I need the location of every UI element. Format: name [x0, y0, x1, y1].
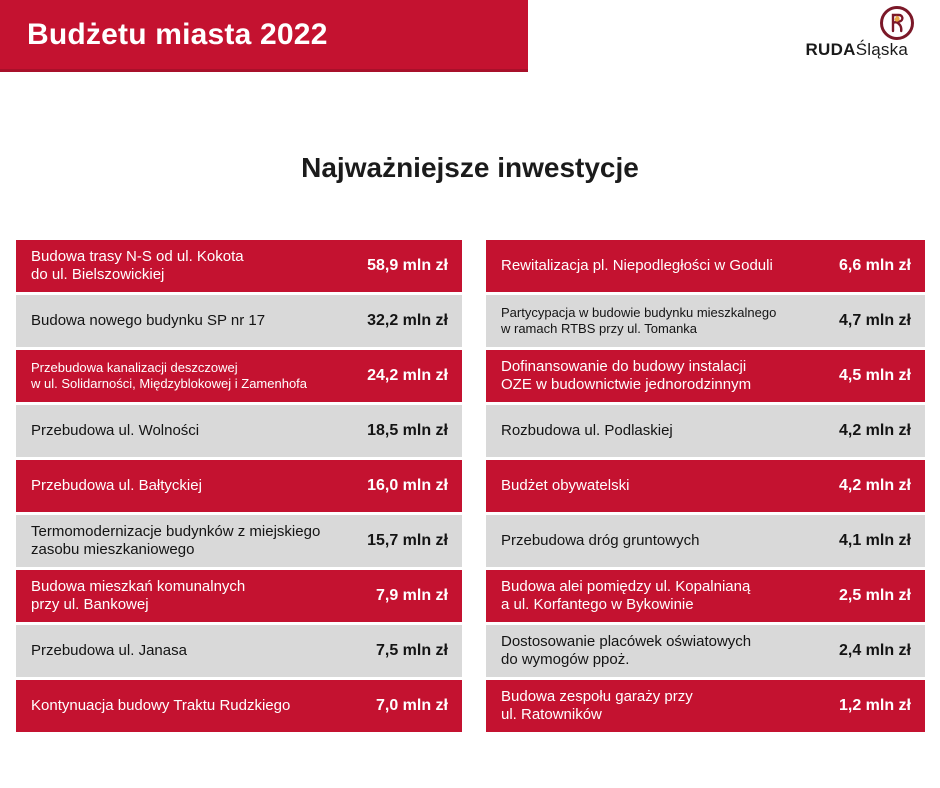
- investment-amount: 18,5 mln zł: [367, 422, 448, 440]
- ruda-slaska-crest-icon: [880, 6, 914, 40]
- infographic-page: Budżetu miasta 2022 RUDAŚląska Najważnie…: [0, 0, 940, 788]
- investment-label: Budowa trasy N-S od ul. Kokota do ul. Bi…: [31, 248, 367, 284]
- investment-row: Budowa zespołu garaży przy ul. Ratownikó…: [486, 680, 925, 732]
- city-logo: RUDAŚląska: [790, 6, 920, 68]
- page-title: Budżetu miasta 2022: [27, 18, 328, 52]
- investment-label: Dostosowanie placówek oświatowych do wym…: [501, 633, 839, 669]
- logo-name-light: Śląska: [856, 40, 908, 59]
- investment-label: Budowa mieszkań komunalnych przy ul. Ban…: [31, 578, 376, 614]
- investment-amount: 2,4 mln zł: [839, 642, 911, 660]
- investment-label: Budowa alei pomiędzy ul. Kopalnianą a ul…: [501, 578, 839, 614]
- investment-amount: 4,2 mln zł: [839, 422, 911, 440]
- investment-label: Przebudowa ul. Janasa: [31, 642, 376, 660]
- investment-row: Przebudowa ul. Bałtyckiej16,0 mln zł: [16, 460, 462, 512]
- investment-label: Partycypacja w budowie budynku mieszkaln…: [501, 305, 839, 337]
- investment-amount: 24,2 mln zł: [367, 367, 448, 385]
- investment-label: Przebudowa kanalizacji deszczowej w ul. …: [31, 360, 367, 392]
- investment-row: Przebudowa ul. Wolności18,5 mln zł: [16, 405, 462, 457]
- investment-row: Budowa nowego budynku SP nr 1732,2 mln z…: [16, 295, 462, 347]
- investment-amount: 1,2 mln zł: [839, 697, 911, 715]
- investment-amount: 32,2 mln zł: [367, 312, 448, 330]
- investment-row: Budowa alei pomiędzy ul. Kopalnianą a ul…: [486, 570, 925, 622]
- investment-amount: 4,1 mln zł: [839, 532, 911, 550]
- section-heading: Najważniejsze inwestycje: [0, 152, 940, 184]
- investment-label: Kontynuacja budowy Traktu Rudzkiego: [31, 697, 376, 715]
- investment-label: Przebudowa ul. Bałtyckiej: [31, 477, 367, 495]
- investment-row: Przebudowa kanalizacji deszczowej w ul. …: [16, 350, 462, 402]
- investment-label: Rewitalizacja pl. Niepodległości w Godul…: [501, 257, 839, 275]
- investment-label: Budowa zespołu garaży przy ul. Ratownikó…: [501, 688, 839, 724]
- investment-row: Budżet obywatelski4,2 mln zł: [486, 460, 925, 512]
- title-banner: Budżetu miasta 2022: [0, 0, 528, 72]
- investment-row: Rewitalizacja pl. Niepodległości w Godul…: [486, 240, 925, 292]
- investment-amount: 2,5 mln zł: [839, 587, 911, 605]
- investment-amount: 6,6 mln zł: [839, 257, 911, 275]
- investment-row: Budowa trasy N-S od ul. Kokota do ul. Bi…: [16, 240, 462, 292]
- investment-amount: 16,0 mln zł: [367, 477, 448, 495]
- logo-wordmark: RUDAŚląska: [805, 40, 908, 60]
- investment-row: Dostosowanie placówek oświatowych do wym…: [486, 625, 925, 677]
- investment-amount: 4,2 mln zł: [839, 477, 911, 495]
- investment-label: Przebudowa dróg gruntowych: [501, 532, 839, 550]
- investment-label: Termomodernizacje budynków z miejskiego …: [31, 523, 367, 559]
- investment-amount: 7,9 mln zł: [376, 587, 448, 605]
- investment-row: Przebudowa dróg gruntowych4,1 mln zł: [486, 515, 925, 567]
- investment-column-right: Rewitalizacja pl. Niepodległości w Godul…: [486, 240, 925, 732]
- investment-column-left: Budowa trasy N-S od ul. Kokota do ul. Bi…: [16, 240, 462, 732]
- investment-row: Dofinansowanie do budowy instalacji OZE …: [486, 350, 925, 402]
- investment-label: Budowa nowego budynku SP nr 17: [31, 312, 367, 330]
- investment-amount: 4,5 mln zł: [839, 367, 911, 385]
- investment-row: Budowa mieszkań komunalnych przy ul. Ban…: [16, 570, 462, 622]
- investment-label: Przebudowa ul. Wolności: [31, 422, 367, 440]
- investment-row: Termomodernizacje budynków z miejskiego …: [16, 515, 462, 567]
- investment-amount: 4,7 mln zł: [839, 312, 911, 330]
- investment-amount: 58,9 mln zł: [367, 257, 448, 275]
- investment-label: Rozbudowa ul. Podlaskiej: [501, 422, 839, 440]
- investment-row: Kontynuacja budowy Traktu Rudzkiego7,0 m…: [16, 680, 462, 732]
- investment-amount: 7,5 mln zł: [376, 642, 448, 660]
- investment-row: Rozbudowa ul. Podlaskiej4,2 mln zł: [486, 405, 925, 457]
- investment-amount: 7,0 mln zł: [376, 697, 448, 715]
- investment-amount: 15,7 mln zł: [367, 532, 448, 550]
- logo-name-bold: RUDA: [805, 40, 855, 59]
- investment-row: Przebudowa ul. Janasa7,5 mln zł: [16, 625, 462, 677]
- investment-label: Dofinansowanie do budowy instalacji OZE …: [501, 358, 839, 394]
- investment-label: Budżet obywatelski: [501, 477, 839, 495]
- investment-columns: Budowa trasy N-S od ul. Kokota do ul. Bi…: [16, 240, 925, 732]
- investment-row: Partycypacja w budowie budynku mieszkaln…: [486, 295, 925, 347]
